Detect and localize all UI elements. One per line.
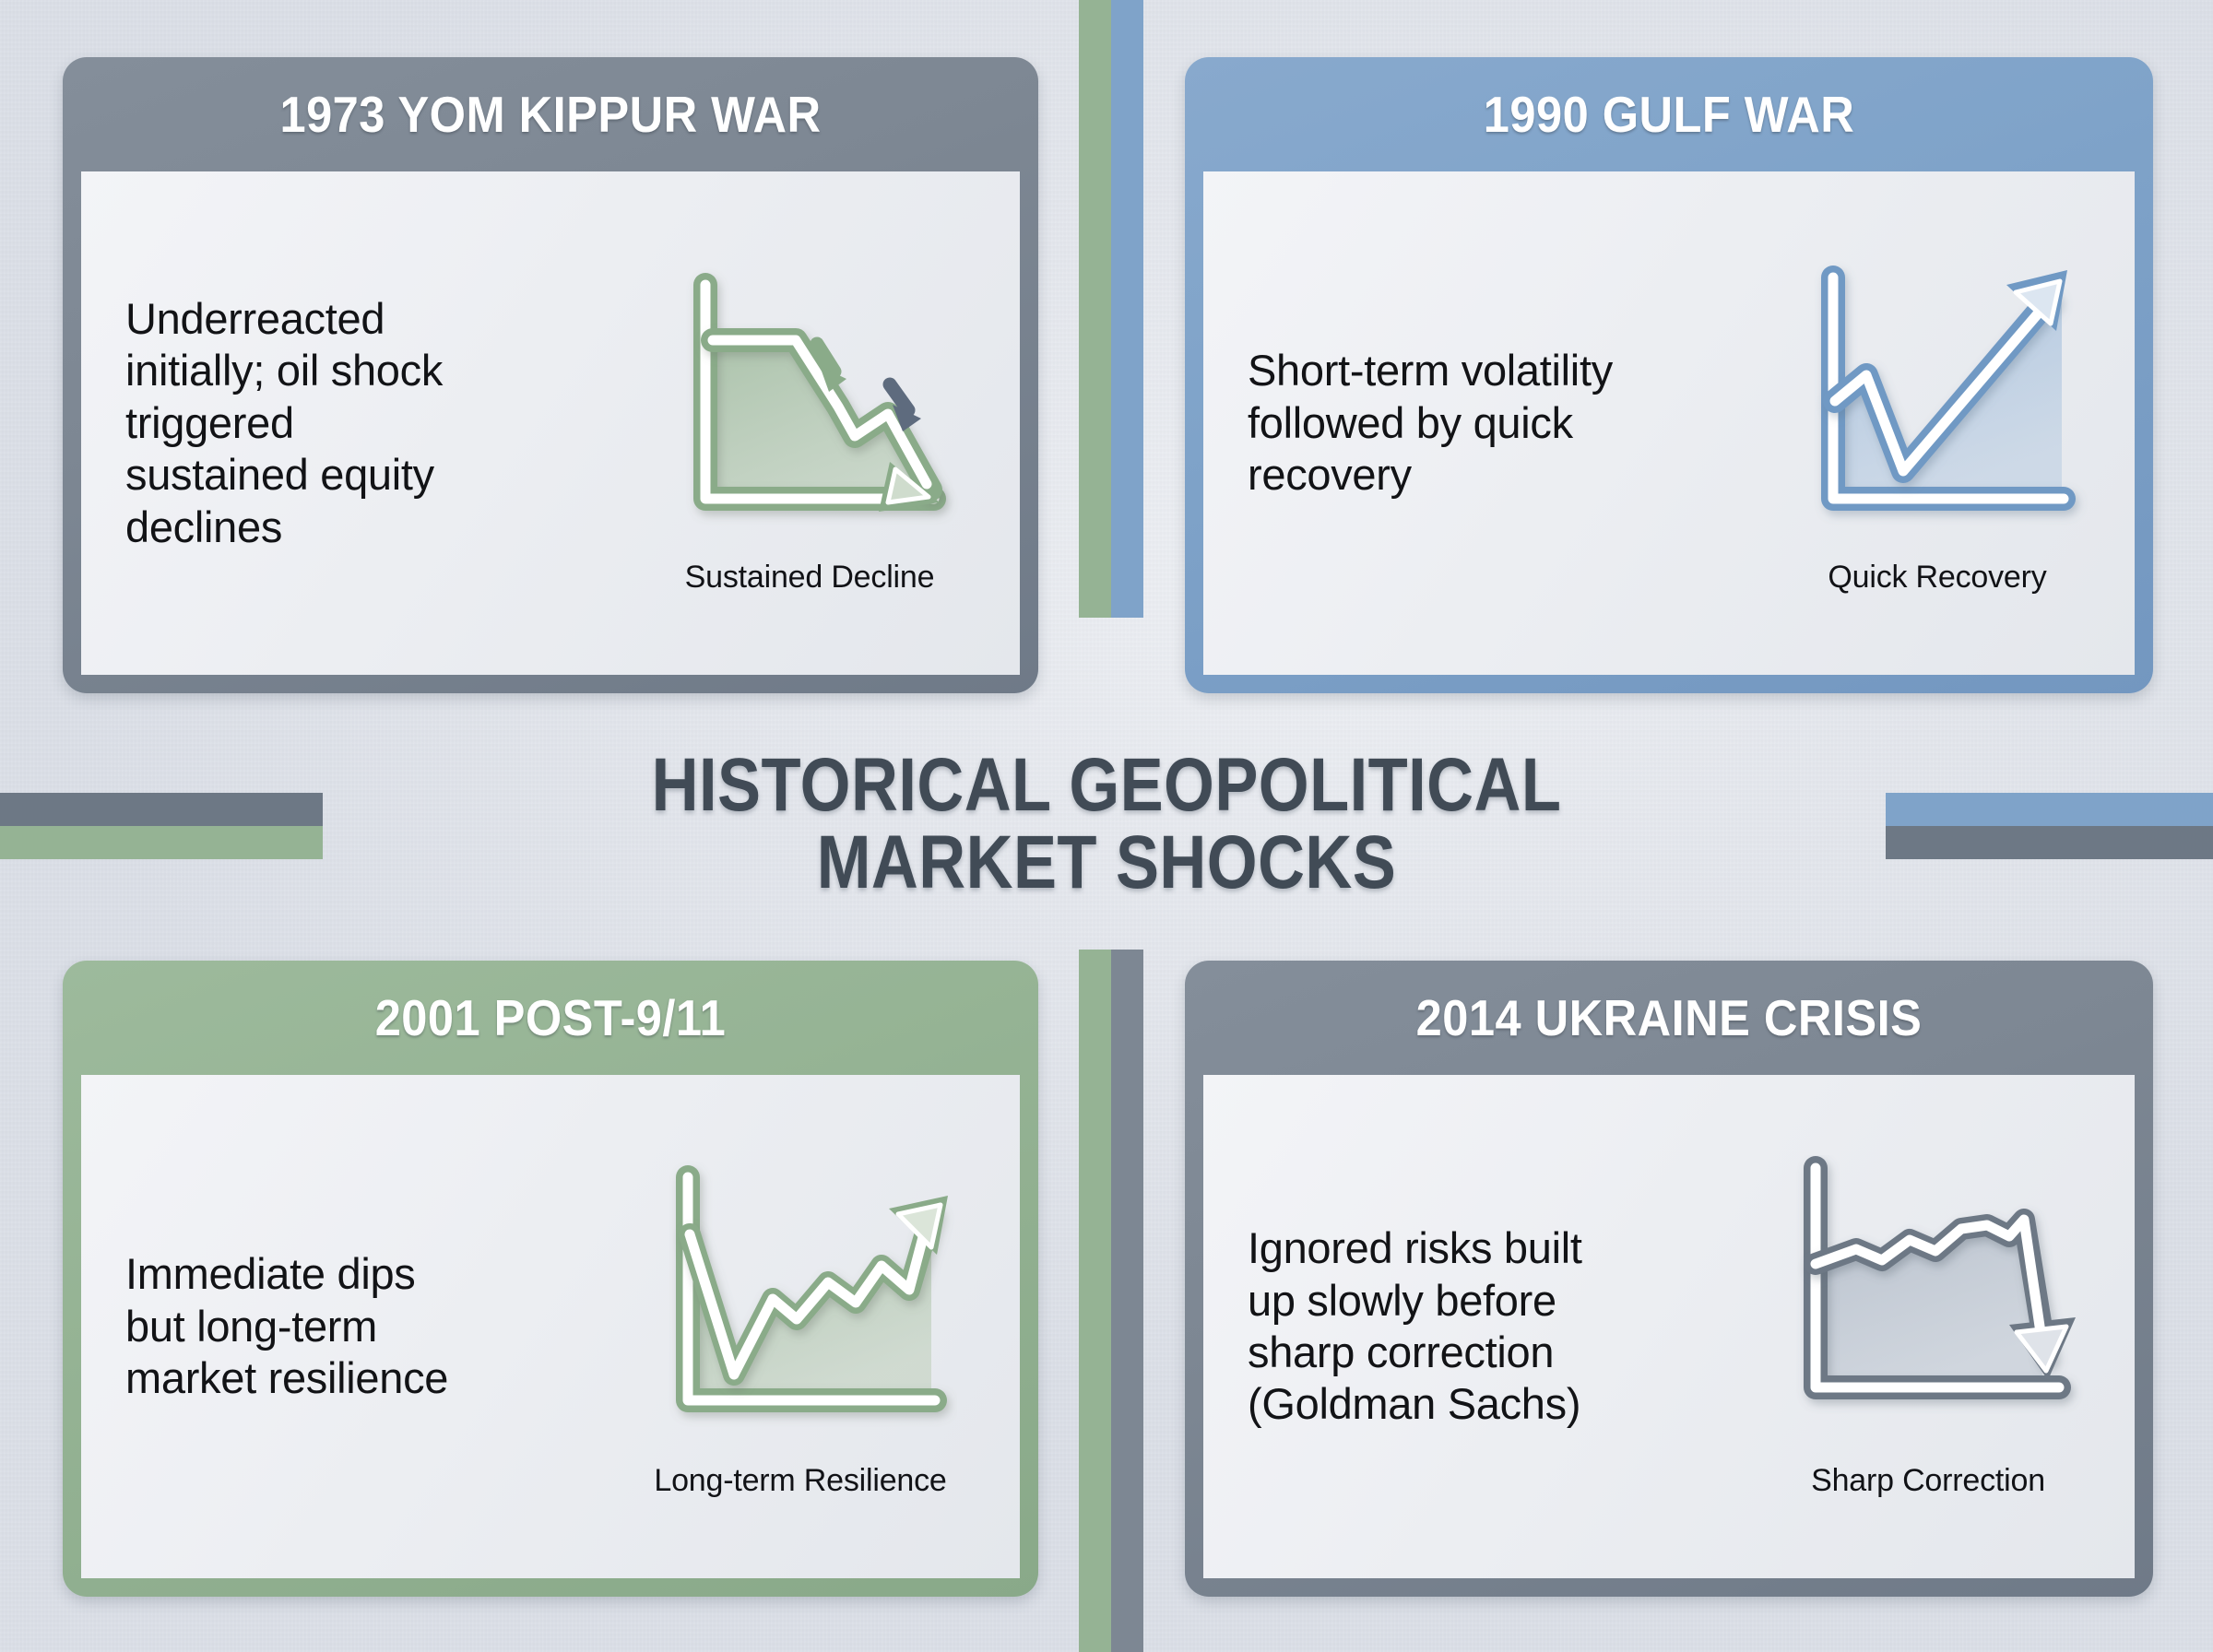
- chart-caption-2001: Long-term Resilience: [654, 1463, 946, 1499]
- page-title: HISTORICAL GEOPOLITICAL MARKET SHOCKS: [155, 747, 2058, 901]
- divider-stripe-slate: [1111, 950, 1143, 1652]
- chart-icon-group-2014: Sharp Correction: [1746, 1155, 2111, 1499]
- chart-caption-2014: Sharp Correction: [1811, 1463, 2045, 1499]
- chart-icon-group-1973: Sustained Decline: [623, 252, 996, 596]
- long-term-resilience-chart-icon: [644, 1155, 957, 1459]
- divider-stripe-green: [1079, 0, 1111, 618]
- panel-description-2001: Immediate dips but long-term market resi…: [105, 1248, 605, 1404]
- panel-body-1973: Underreacted initially; oil shock trigge…: [81, 171, 1020, 675]
- panel-post-911-2001[interactable]: 2001 POST-9/11 Immediate dips but long-t…: [63, 961, 1038, 1597]
- chart-icon-group-1990: Quick Recovery: [1764, 252, 2111, 596]
- panel-ukraine-crisis-2014[interactable]: 2014 UKRAINE CRISIS Ignored risks built …: [1185, 961, 2153, 1597]
- bottom-vertical-divider: [1079, 950, 1143, 1652]
- chart-caption-1973: Sustained Decline: [685, 560, 935, 596]
- panel-body-2001: Immediate dips but long-term market resi…: [81, 1075, 1020, 1578]
- panel-body-1990: Short-term volatility followed by quick …: [1203, 171, 2135, 675]
- panel-heading-1973: 1973 YOM KIPPUR WAR: [101, 57, 999, 171]
- sustained-decline-chart-icon: [657, 252, 962, 556]
- sharp-correction-chart-icon: [1771, 1155, 2085, 1459]
- panel-body-2014: Ignored risks built up slowly before sha…: [1203, 1075, 2135, 1578]
- infographic-canvas: HISTORICAL GEOPOLITICAL MARKET SHOCKS 19…: [0, 0, 2213, 1652]
- panel-description-1973: Underreacted initially; oil shock trigge…: [105, 293, 623, 553]
- panel-gulf-war-1990[interactable]: 1990 GULF WAR Short-term volatility foll…: [1185, 57, 2153, 693]
- panel-heading-2001: 2001 POST-9/11: [101, 961, 999, 1075]
- panel-yom-kippur-1973[interactable]: 1973 YOM KIPPUR WAR Underreacted initial…: [63, 57, 1038, 693]
- panel-description-2014: Ignored risks built up slowly before sha…: [1227, 1222, 1746, 1431]
- divider-stripe-blue: [1111, 0, 1143, 618]
- panel-description-1990: Short-term volatility followed by quick …: [1227, 345, 1764, 501]
- divider-stripe-green: [1079, 950, 1111, 1652]
- panel-heading-1990: 1990 GULF WAR: [1224, 57, 2114, 171]
- chart-caption-1990: Quick Recovery: [1828, 560, 2046, 596]
- top-vertical-divider: [1079, 0, 1143, 618]
- panel-heading-2014: 2014 UKRAINE CRISIS: [1224, 961, 2114, 1075]
- chart-icon-group-2001: Long-term Resilience: [605, 1155, 996, 1499]
- quick-recovery-chart-icon: [1785, 252, 2089, 556]
